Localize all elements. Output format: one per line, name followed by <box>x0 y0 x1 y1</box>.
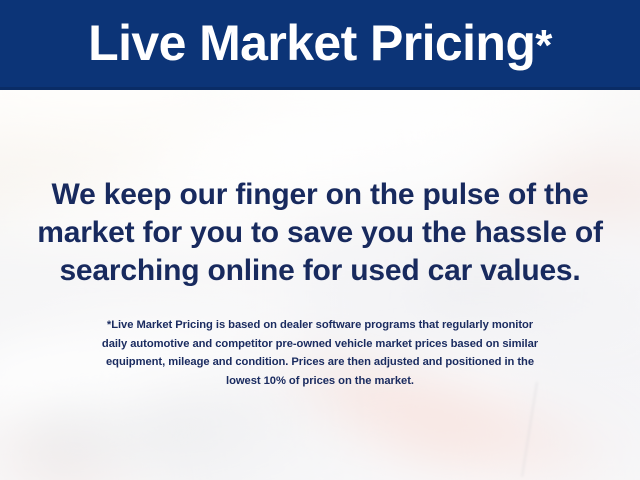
headline-line: searching online for used car values. <box>20 252 620 290</box>
page-title: Live Market Pricing* <box>88 18 552 70</box>
live-market-pricing-banner: Live Market Pricing* We keep our finger … <box>0 0 640 480</box>
disclaimer-line: daily automotive and competitor pre-owne… <box>22 335 618 354</box>
page-title-text: Live Market Pricing <box>88 15 535 71</box>
header-band: Live Market Pricing* <box>0 0 640 90</box>
headline-line: We keep our finger on the pulse of the <box>20 176 620 214</box>
headline-line: market for you to save you the hassle of <box>20 214 620 252</box>
page-title-asterisk: * <box>535 21 552 70</box>
disclaimer-line: *Live Market Pricing is based on dealer … <box>22 316 618 335</box>
disclaimer-line: equipment, mileage and condition. Prices… <box>22 353 618 372</box>
disclaimer-block: *Live Market Pricing is based on dealer … <box>22 316 618 390</box>
disclaimer-line: lowest 10% of prices on the market. <box>22 372 618 391</box>
headline-block: We keep our finger on the pulse of the m… <box>20 176 620 290</box>
content-area: We keep our finger on the pulse of the m… <box>0 93 640 480</box>
